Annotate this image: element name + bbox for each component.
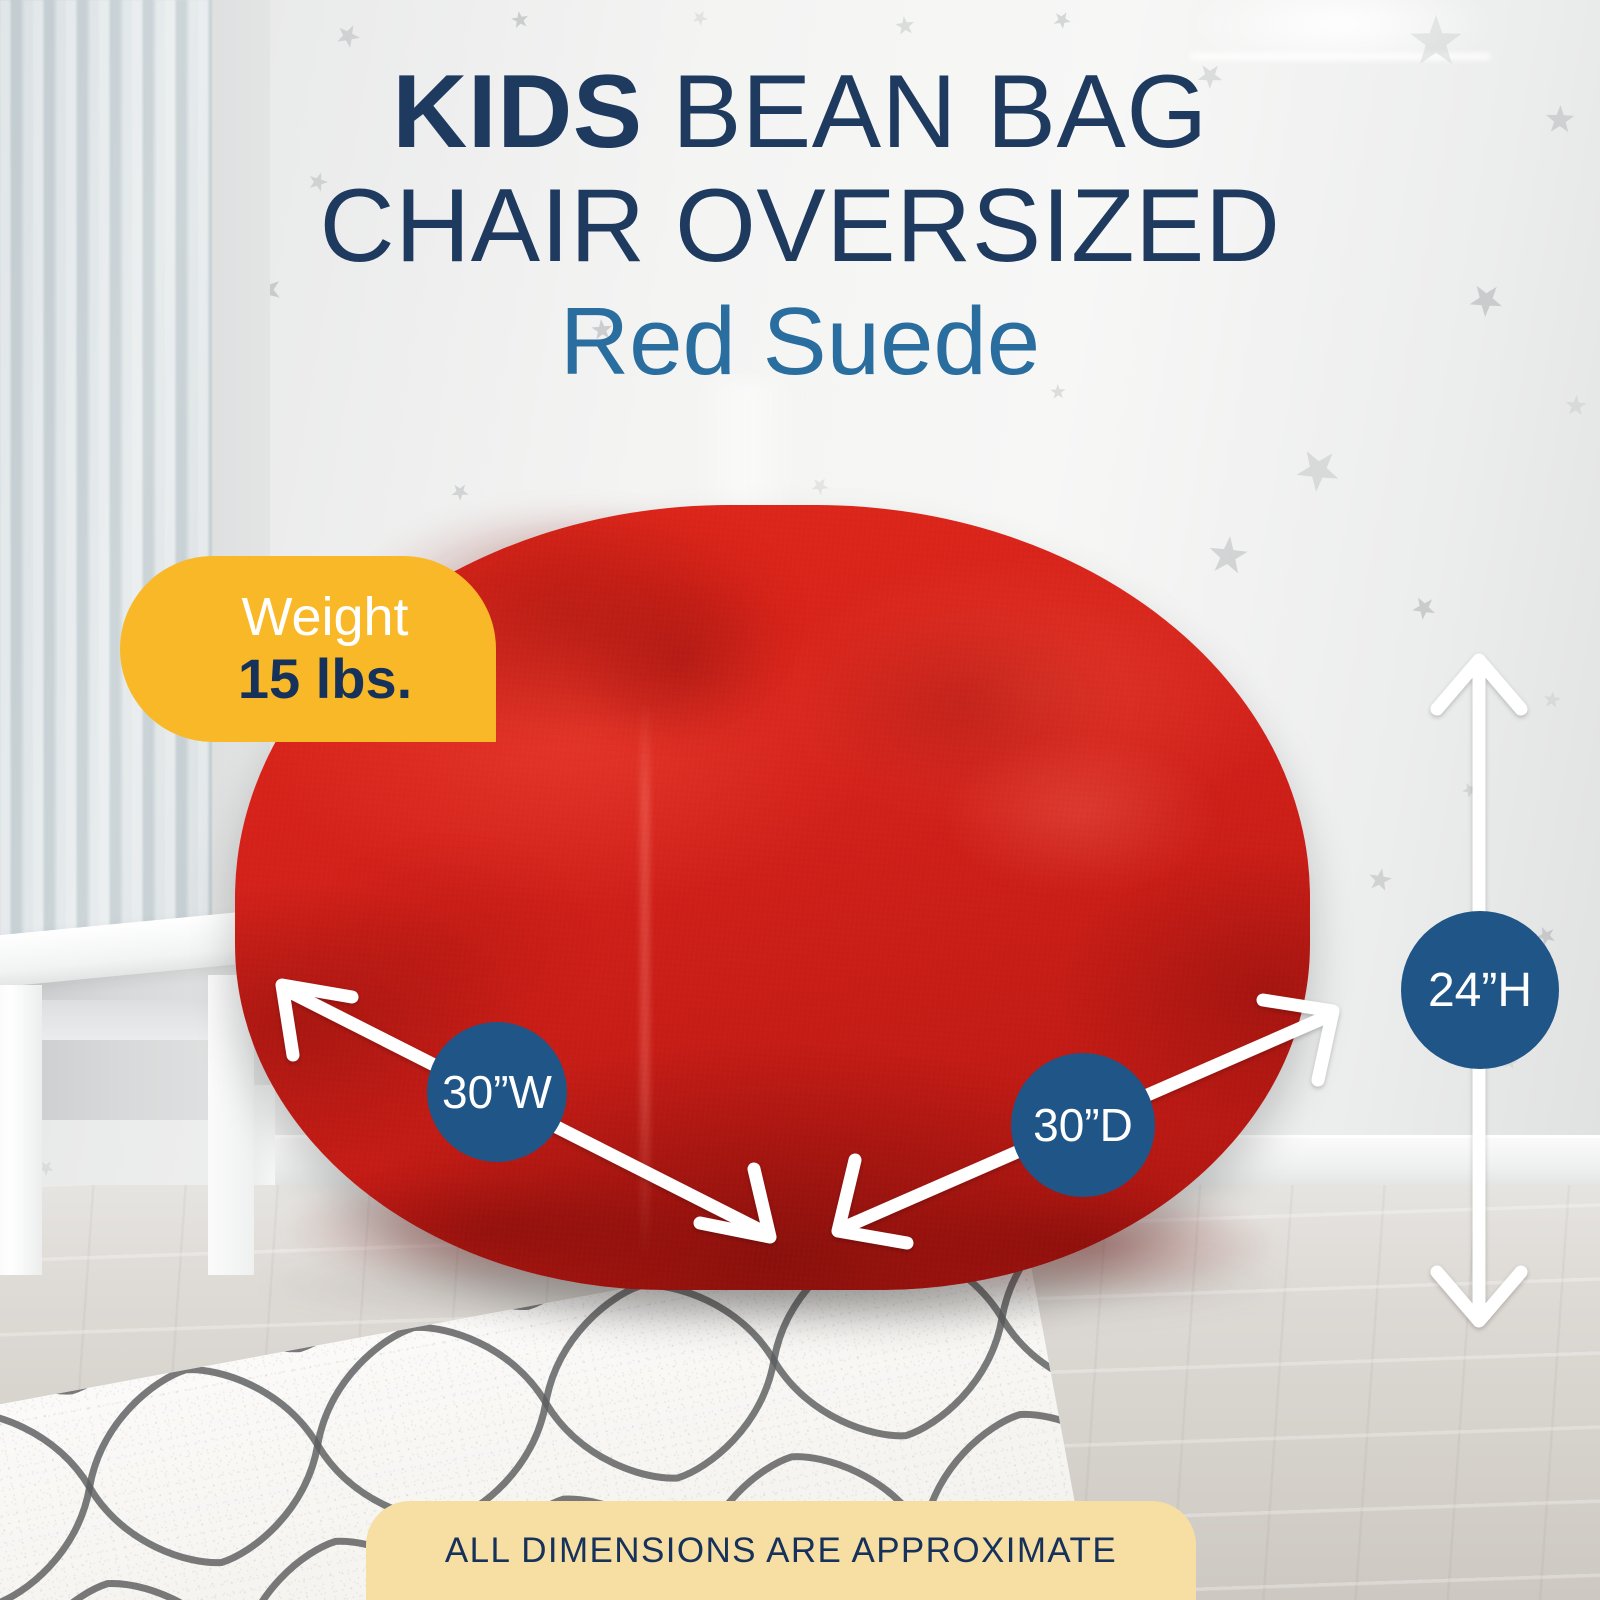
dimension-badge-height: 24”H — [1401, 911, 1559, 1069]
product-infographic: KIDS BEAN BAG CHAIR OVERSIZED Red Suede … — [0, 0, 1600, 1600]
dimension-badge-depth: 30”D — [1011, 1053, 1155, 1197]
disclaimer-text: ALL DIMENSIONS ARE APPROXIMATE — [445, 1531, 1117, 1571]
dimension-badge-width: 30”W — [427, 1022, 567, 1162]
disclaimer-banner: ALL DIMENSIONS ARE APPROXIMATE — [366, 1501, 1196, 1600]
dimension-arrows — [0, 0, 1600, 1600]
